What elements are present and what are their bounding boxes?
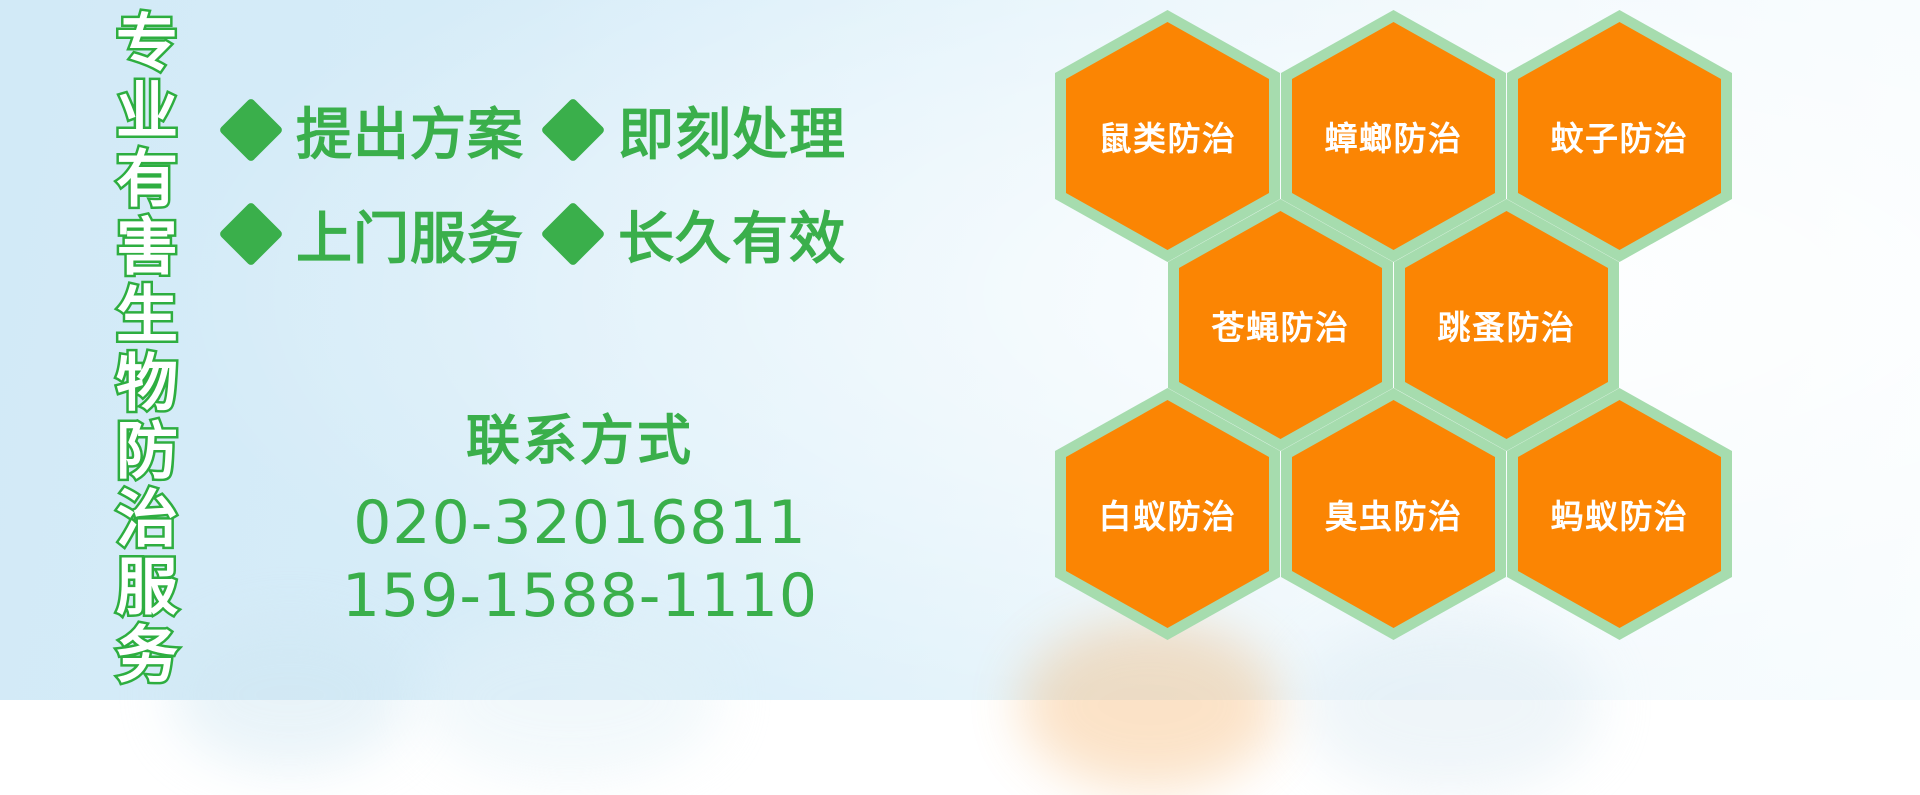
feature-row: 上门服务 长久有效 [228, 182, 868, 286]
service-label: 鼠类防治 [1099, 112, 1237, 160]
contact-phone-landline[interactable]: 020-32016811 [300, 487, 860, 560]
contact-phone-mobile[interactable]: 159-1588-1110 [300, 560, 860, 633]
hex-inner: 蚊子防治 [1518, 22, 1721, 250]
service-label: 蚊子防治 [1551, 112, 1689, 160]
feature-item-long-lasting: 长久有效 [550, 194, 846, 275]
service-label: 臭虫防治 [1325, 490, 1463, 538]
service-honeycomb: 鼠类防治 蟑螂防治 蚊子防治 苍蝇防治 跳蚤防治 白蚁防治 [1055, 0, 1775, 700]
pest-control-banner: 专业有害生物防治服务 提出方案 即刻处理 上门服务 长久有效 [0, 0, 1920, 700]
hex-inner: 苍蝇防治 [1179, 211, 1382, 439]
service-label: 白蚁防治 [1099, 490, 1237, 538]
hex-inner: 蟑螂防治 [1292, 22, 1495, 250]
feature-label: 长久有效 [618, 194, 846, 275]
feature-item-propose-plan: 提出方案 [228, 90, 524, 171]
hex-inner: 鼠类防治 [1066, 22, 1269, 250]
background-blob [170, 620, 410, 770]
hex-inner: 白蚁防治 [1066, 400, 1269, 628]
feature-item-onsite-service: 上门服务 [228, 194, 524, 275]
service-label: 蟑螂防治 [1325, 112, 1463, 160]
feature-list: 提出方案 即刻处理 上门服务 长久有效 [228, 78, 868, 286]
feature-label: 上门服务 [296, 194, 524, 275]
diamond-bullet-icon [218, 97, 283, 162]
hex-inner: 蚂蚁防治 [1518, 400, 1721, 628]
contact-title: 联系方式 [300, 396, 860, 475]
diamond-bullet-icon [218, 201, 283, 266]
contact-block: 联系方式 020-32016811 159-1588-1110 [300, 396, 860, 633]
feature-label: 即刻处理 [618, 90, 846, 171]
vertical-company-title: 专业有害生物防治服务 [110, 10, 172, 680]
service-label: 蚂蚁防治 [1551, 490, 1689, 538]
diamond-bullet-icon [540, 97, 605, 162]
diamond-bullet-icon [540, 201, 605, 266]
feature-item-immediate-handling: 即刻处理 [550, 90, 846, 171]
service-label: 跳蚤防治 [1438, 301, 1576, 349]
background-blob [420, 620, 720, 780]
service-label: 苍蝇防治 [1212, 301, 1350, 349]
feature-label: 提出方案 [296, 90, 524, 171]
hex-inner: 臭虫防治 [1292, 400, 1495, 628]
feature-row: 提出方案 即刻处理 [228, 78, 868, 182]
hex-inner: 跳蚤防治 [1405, 211, 1608, 439]
